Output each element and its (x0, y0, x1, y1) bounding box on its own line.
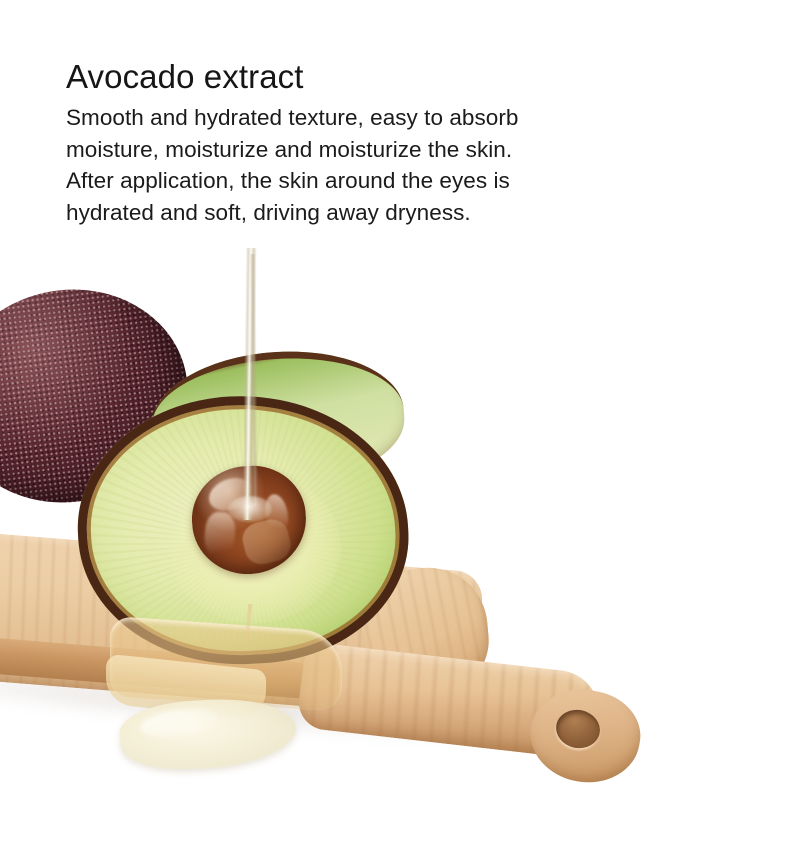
page-title: Avocado extract (66, 57, 726, 97)
description-line-1: Smooth and hydrated texture, easy to abs… (66, 102, 726, 134)
product-detail-page: Avocado extract Smooth and hydrated text… (0, 0, 790, 860)
oil-impact-highlight (228, 496, 272, 522)
description-paragraph: Smooth and hydrated texture, easy to abs… (66, 102, 726, 228)
product-photo (0, 248, 790, 860)
description-line-3: After application, the skin around the e… (66, 165, 726, 197)
description-line-4: hydrated and soft, driving away dryness. (66, 197, 726, 229)
copy-block: Avocado extract Smooth and hydrated text… (66, 57, 726, 228)
description-line-2: moisture, moisturize and moisturize the … (66, 134, 726, 166)
pit-highlight-left (203, 511, 236, 557)
